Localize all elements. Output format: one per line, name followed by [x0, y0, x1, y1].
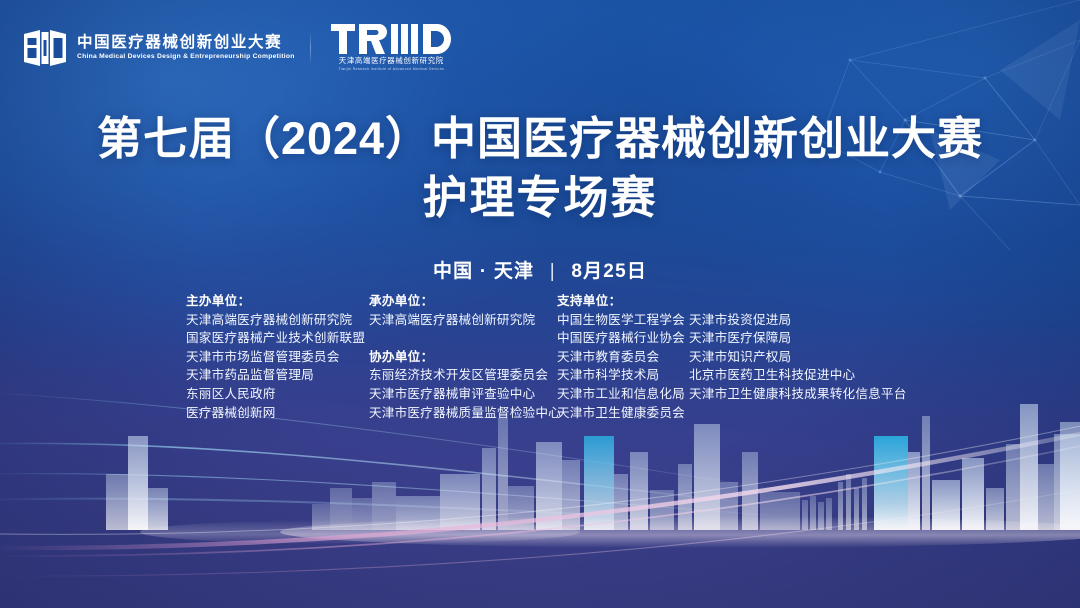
cmdc-logo-en: China Medical Devices Design & Entrepren… [77, 54, 295, 61]
organizer-item: 天津市市场监督管理委员会 [186, 348, 369, 367]
organizer-item: 东丽经济技术开发区管理委员会 [369, 366, 557, 385]
organizer-item: 天津市药品监督管理局 [186, 366, 369, 385]
organizer-item: 天津市教育委员会 [557, 348, 689, 367]
cmdc-logo-text: 中国医疗器械创新创业大赛 China Medical Devices Desig… [77, 35, 290, 60]
meta-separator: | [550, 261, 556, 283]
organizer-item: 天津市卫生健康委员会 [557, 404, 689, 423]
organizer-group-heading: 主办单位： [186, 292, 369, 311]
logo-divider [310, 31, 311, 65]
organizer-item: 天津市医疗器械审评查验中心 [369, 385, 557, 404]
open-book-mark-icon [22, 28, 68, 68]
organizer-columns: 主办单位：天津高端医疗器械创新研究院国家医疗器械产业技术创新联盟天津市市场监督管… [186, 292, 899, 422]
organizer-item: 天津市医疗保障局 [689, 329, 899, 348]
header-logos: 中国医疗器械创新创业大赛 China Medical Devices Desig… [22, 24, 451, 72]
organizer-item: 北京市医药卫生科技促进中心 [689, 366, 899, 385]
poster-canvas: 中国医疗器械创新创业大赛 China Medical Devices Desig… [0, 0, 1080, 608]
triid-logo: 天津高端医疗器械创新研究院 Tianjin Reseach Institute … [331, 24, 451, 72]
cmdc-logo: 中国医疗器械创新创业大赛 China Medical Devices Desig… [22, 28, 290, 68]
organizer-column-support: 支持单位：中国生物医学工程学会中国医疗器械行业协会天津市教育委员会天津市科学技术… [557, 292, 689, 422]
cmdc-logo-cn: 中国医疗器械创新创业大赛 [77, 35, 290, 51]
title-block: 第七届（2024）中国医疗器械创新创业大赛 护理专场赛 [0, 112, 1080, 226]
organizer-item: 天津市知识产权局 [689, 348, 899, 367]
organizer-group-heading: 协办单位： [369, 348, 557, 367]
organizer-item: 天津市投资促进局 [689, 311, 899, 330]
organizer-column-support-overflow: 天津市投资促进局天津市医疗保障局天津市知识产权局北京市医药卫生科技促进中心天津市… [689, 292, 899, 404]
organizer-item: 天津市工业和信息化局 [557, 385, 689, 404]
organizer-item: 医疗器械创新网 [186, 404, 369, 423]
event-meta-line: 中国 · 天津 | 8月25日 [0, 256, 1080, 283]
organizer-item: 东丽区人民政府 [186, 385, 369, 404]
organizer-item: 中国生物医学工程学会 [557, 311, 689, 330]
page-subtitle: 护理专场赛 [0, 171, 1080, 226]
organizer-item: 天津市卫生健康科技成果转化信息平台 [689, 385, 899, 404]
organizer-column-host: 主办单位：天津高端医疗器械创新研究院国家医疗器械产业技术创新联盟天津市市场监督管… [186, 292, 369, 422]
organizer-item: 天津高端医疗器械创新研究院 [369, 311, 557, 330]
event-location: 中国 · 天津 [433, 261, 534, 282]
organizer-item: 天津市科学技术局 [557, 366, 689, 385]
organizer-item: 中国医疗器械行业协会 [557, 329, 689, 348]
organizer-item: 天津市医疗器械质量监督检验中心 [369, 404, 557, 423]
organizer-group-gap [369, 329, 557, 348]
organizer-column-undertaker: 承办单位：天津高端医疗器械创新研究院协办单位：东丽经济技术开发区管理委员会天津市… [369, 292, 557, 422]
triid-wordmark-icon [331, 24, 451, 54]
triid-logo-cn: 天津高端医疗器械创新研究院 [339, 57, 444, 65]
organizer-group-heading: 支持单位： [557, 292, 689, 311]
organizer-item: 天津高端医疗器械创新研究院 [186, 311, 369, 330]
page-title: 第七届（2024）中国医疗器械创新创业大赛 [0, 112, 1080, 167]
triid-logo-en: Tianjin Reseach Institute of Advanced Me… [338, 68, 444, 72]
organizer-group-heading: 承办单位： [369, 292, 557, 311]
organizer-item: 国家医疗器械产业技术创新联盟 [186, 329, 369, 348]
event-date: 8月25日 [571, 261, 647, 282]
